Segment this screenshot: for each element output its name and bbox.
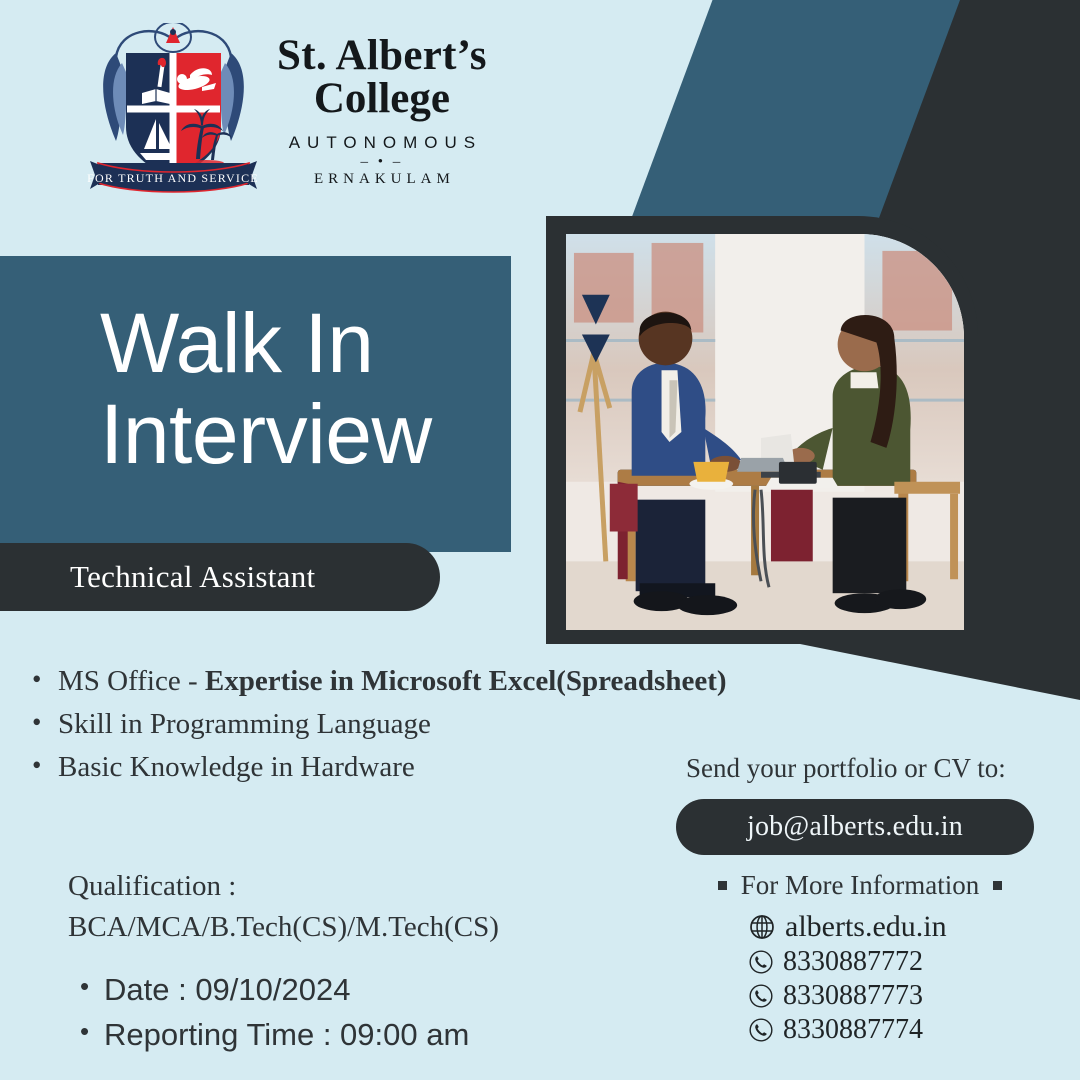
phone-icon — [748, 949, 774, 975]
crest-motto-text: FOR TRUTH AND SERVICE — [87, 171, 259, 185]
campus-location-label: ERNAKULAM — [277, 172, 487, 187]
college-name-line-2: College — [277, 77, 487, 120]
college-name-line-1: St. Albert’s — [277, 34, 487, 77]
skill-text: Basic Knowledge in Hardware — [58, 751, 415, 783]
qualification-block: Qualification : BCA/MCA/B.Tech(CS)/M.Tec… — [68, 866, 499, 948]
phone-icon — [748, 983, 774, 1009]
more-information-label: For More Information — [741, 870, 979, 901]
website-row[interactable]: alberts.edu.in — [748, 912, 947, 942]
square-bullet-left-icon — [718, 881, 727, 890]
phone-row[interactable]: 8330887774 — [748, 1016, 947, 1044]
skill-text: Skill in Programming Language — [58, 708, 431, 740]
phone-number: 8330887774 — [783, 1016, 923, 1044]
email-address: job@alberts.edu.in — [747, 811, 963, 843]
headline-line-1: Walk In — [100, 298, 520, 389]
college-crest-icon: FOR TRUTH AND SERVICE — [86, 23, 261, 198]
skill-emphasis: Expertise in Microsoft Excel(Spreadsheet… — [205, 665, 727, 697]
globe-icon — [748, 913, 776, 941]
website-url: alberts.edu.in — [785, 912, 947, 942]
phone-row[interactable]: 8330887773 — [748, 982, 947, 1010]
email-button[interactable]: job@alberts.edu.in — [676, 799, 1034, 855]
qualification-label: Qualification : — [68, 866, 499, 907]
autonomous-label: AUTONOMOUS — [277, 134, 487, 151]
interview-photo — [566, 234, 964, 630]
contact-details: alberts.edu.in 8330887772 8330887773 833… — [748, 912, 947, 1050]
schedule-list: Date : 09/10/2024 Reporting Time : 09:00… — [70, 968, 469, 1058]
interview-photo-illustration — [566, 234, 964, 630]
list-item: Skill in Programming Language — [58, 703, 858, 746]
phone-number: 8330887773 — [783, 982, 923, 1010]
send-portfolio-label: Send your portfolio or CV to: — [686, 753, 1006, 784]
page-title: Walk In Interview — [100, 298, 520, 479]
headline-line-2: Interview — [100, 389, 520, 480]
phone-icon — [748, 1017, 774, 1043]
list-item: Date : 09/10/2024 — [104, 968, 469, 1013]
list-item: Reporting Time : 09:00 am — [104, 1013, 469, 1058]
more-information-header: For More Information — [700, 870, 1020, 901]
qualification-value: BCA/MCA/B.Tech(CS)/M.Tech(CS) — [68, 907, 499, 948]
phone-number: 8330887772 — [783, 948, 923, 976]
recruitment-poster: FOR TRUTH AND SERVICE St. Albert’s Colle… — [0, 0, 1080, 1080]
list-item: MS Office - Expertise in Microsoft Excel… — [58, 660, 858, 703]
phone-row[interactable]: 8330887772 — [748, 948, 947, 976]
square-bullet-right-icon — [993, 881, 1002, 890]
role-badge-label: Technical Assistant — [0, 559, 315, 595]
logo-divider: – • – — [277, 155, 487, 170]
role-badge: Technical Assistant — [0, 543, 440, 611]
skill-text: MS Office - — [58, 665, 205, 697]
interview-photo-frame — [546, 216, 978, 644]
college-logo: FOR TRUTH AND SERVICE St. Albert’s Colle… — [86, 18, 486, 203]
